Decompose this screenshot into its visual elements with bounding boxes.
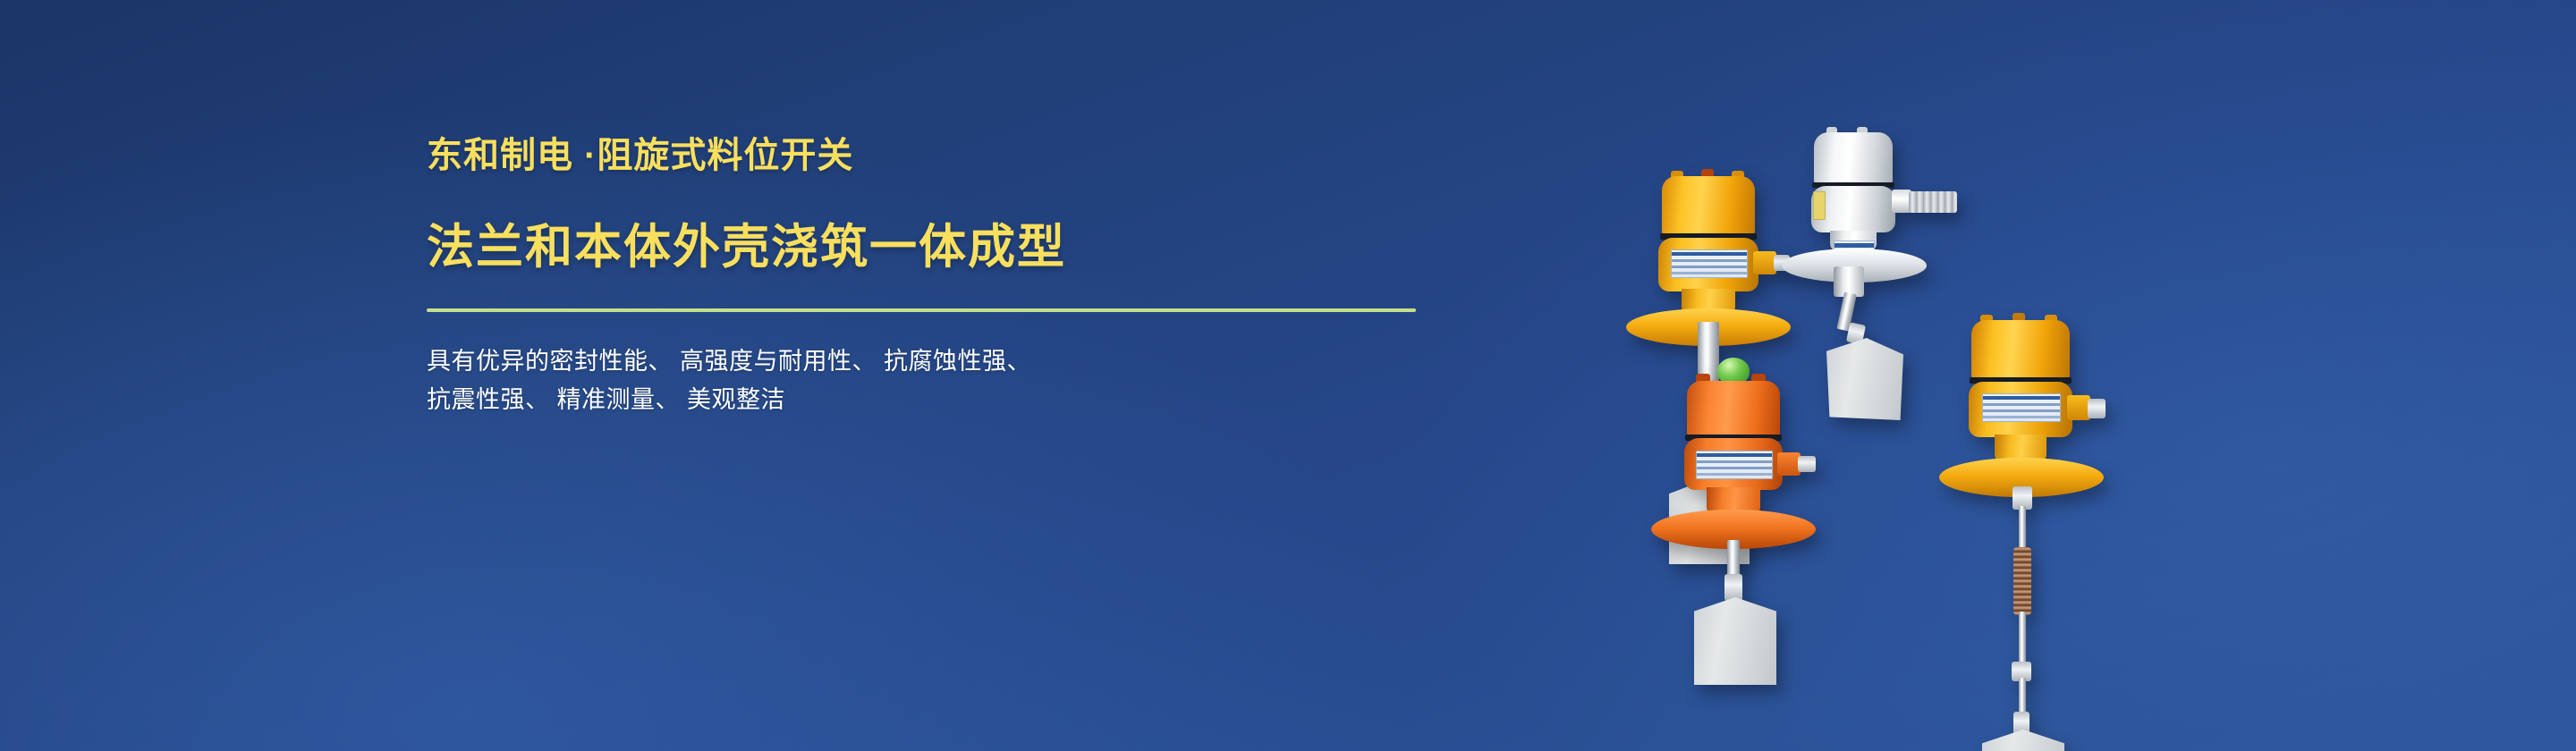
product-orange: [1637, 349, 1905, 751]
feature-line: 抗震性强、 精准测量、 美观整洁: [427, 381, 1500, 420]
housing-cap: [1814, 132, 1893, 184]
divider-line: [427, 308, 1416, 312]
product-image-group: [1476, 107, 2156, 626]
housing-cap: [1687, 381, 1780, 436]
cable-gland-icon: [1909, 191, 1957, 213]
banner-eyebrow: 东和制电 ·阻旋式料位开关: [427, 134, 1500, 177]
device-nameplate: [1982, 393, 2061, 422]
housing-cap: [1971, 320, 2070, 379]
device-nameplate: [1696, 451, 1773, 479]
paddle-coupling: [1724, 574, 1742, 601]
device-tag: [1813, 191, 1826, 220]
cable-gland-icon: [1798, 456, 1816, 472]
paddle-blade: [1694, 597, 1776, 685]
feature-line: 具有优异的密封性能、 高强度与耐用性、 抗腐蚀性强、: [427, 342, 1500, 382]
cable-gland-icon: [2088, 399, 2106, 418]
product-banner: 东和制电 ·阻旋式料位开关 法兰和本体外壳浇筑一体成型 具有优异的密封性能、 高…: [0, 0, 2576, 751]
product-yellow-flexible: [1923, 295, 2209, 751]
feature-list: 具有优异的密封性能、 高强度与耐用性、 抗腐蚀性强、 抗震性强、 精准测量、 美…: [427, 342, 1500, 420]
housing-cap: [1662, 176, 1755, 235]
device-nameplate: [1671, 249, 1748, 278]
flexible-cable: [2019, 506, 2026, 551]
banner-headline: 法兰和本体外壳浇筑一体成型: [427, 220, 1500, 276]
paddle-blade: [1982, 730, 2064, 751]
spring-section: [2013, 547, 2031, 615]
banner-copy: 东和制电 ·阻旋式料位开关 法兰和本体外壳浇筑一体成型 具有优异的密封性能、 高…: [427, 134, 1500, 420]
